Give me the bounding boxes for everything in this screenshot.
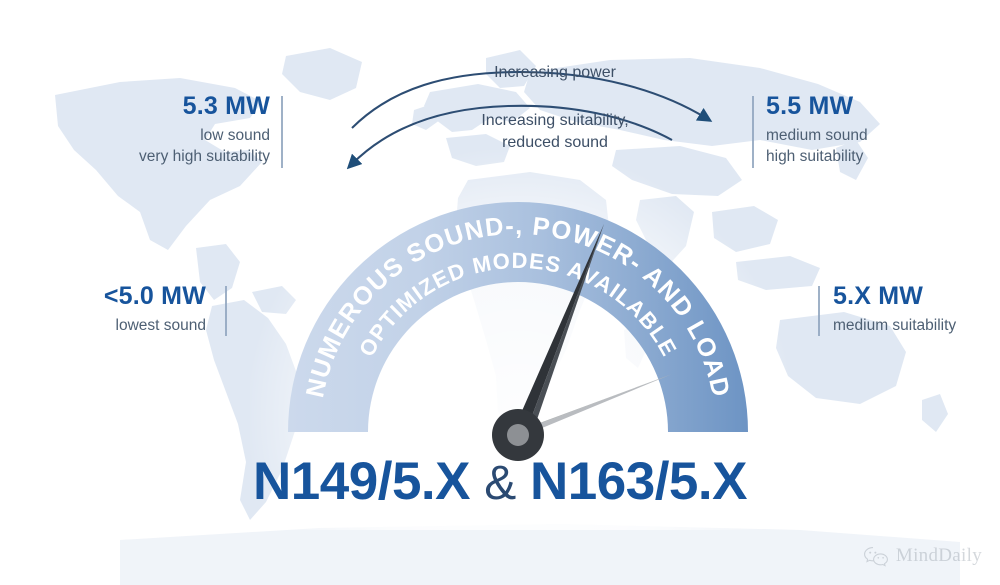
annotation-increasing-power: Increasing power: [455, 62, 655, 84]
label-top-left-value: 5.3 MW: [60, 92, 270, 121]
watermark: MindDaily: [863, 545, 982, 567]
title-ampersand: &: [484, 457, 516, 510]
label-top-left: 5.3 MW low sound very high suitability: [60, 92, 270, 168]
page-title: N149/5.X & N163/5.X: [0, 455, 1000, 508]
label-bottom-right-desc1: medium suitability: [833, 315, 1000, 336]
label-bottom-left-value: <5.0 MW: [10, 282, 206, 311]
label-top-right-value: 5.5 MW: [766, 92, 986, 121]
divider-top-right: [752, 96, 754, 168]
label-top-left-desc2: very high suitability: [60, 146, 270, 167]
label-bottom-right: 5.X MW medium suitability: [833, 282, 1000, 336]
title-model-right: N163/5.X: [530, 452, 747, 511]
annotation-suitability-line2: reduced sound: [420, 132, 690, 154]
label-bottom-left: <5.0 MW lowest sound: [10, 282, 206, 336]
divider-top-left: [281, 96, 283, 168]
label-bottom-left-desc1: lowest sound: [10, 315, 206, 336]
label-top-right-desc1: medium sound: [766, 125, 986, 146]
watermark-text: MindDaily: [896, 545, 982, 567]
label-bottom-right-value: 5.X MW: [833, 282, 1000, 311]
annotation-increasing-power-text: Increasing power: [494, 64, 616, 81]
infographic-canvas: Increasing power Increasing suitability,…: [0, 0, 1000, 585]
wechat-icon: [863, 545, 889, 567]
annotation-increasing-suitability: Increasing suitability, reduced sound: [420, 110, 690, 153]
annotation-suitability-line1: Increasing suitability,: [420, 110, 690, 132]
label-top-left-desc1: low sound: [60, 125, 270, 146]
divider-bottom-left: [225, 286, 227, 336]
label-top-right-desc2: high suitability: [766, 146, 986, 167]
title-model-left: N149/5.X: [253, 452, 470, 511]
gauge-widget: NUMEROUS SOUND-, POWER- AND LOAD OPTIMIZ…: [268, 192, 768, 452]
divider-bottom-right: [818, 286, 820, 336]
label-top-right: 5.5 MW medium sound high suitability: [766, 92, 986, 168]
